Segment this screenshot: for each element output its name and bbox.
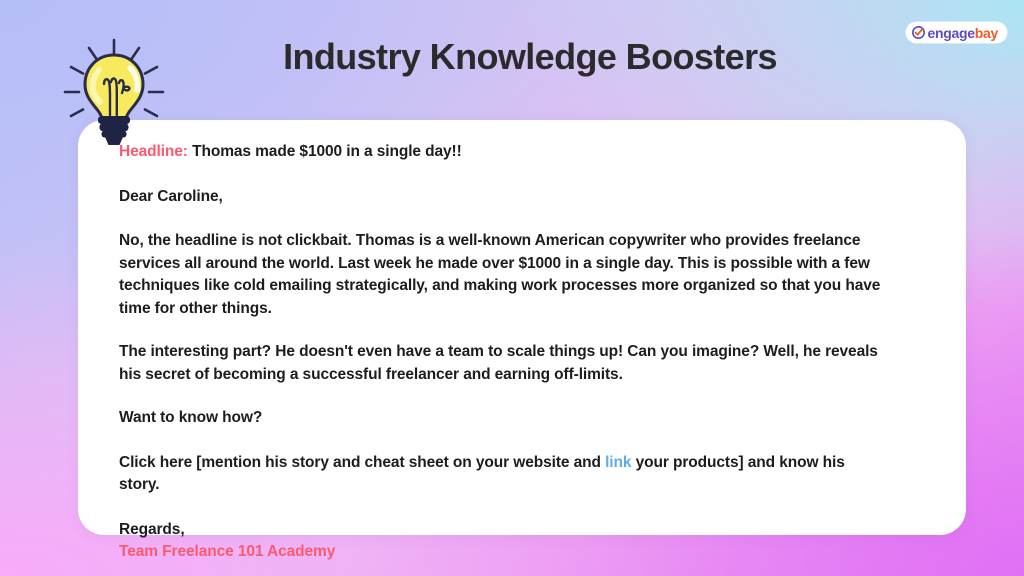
slide-canvas: engagebay Industry Knowledge Boosters [0,0,1024,576]
email-headline-text: Thomas made $1000 in a single day!! [192,143,462,160]
engagebay-logo: engagebay [906,22,1007,43]
email-greeting: Dear Caroline, [119,186,936,209]
email-paragraph-2: The interesting part? He doesn't even ha… [119,341,889,386]
spacer [119,320,936,341]
logo-text-bay: bay [975,25,998,41]
page-title: Industry Knowledge Boosters [180,36,880,77]
email-body: Headline: Thomas made $1000 in a single … [119,141,936,564]
email-signature: Team Freelance 101 Academy [119,541,936,564]
check-circle-icon [912,26,925,39]
spacer [119,386,936,407]
spacer [119,430,936,452]
email-cta-link[interactable]: link [605,454,631,471]
spacer [119,497,936,519]
email-card: Headline: Thomas made $1000 in a single … [78,120,966,535]
email-headline-row: Headline: Thomas made $1000 in a single … [119,141,936,164]
email-question: Want to know how? [119,407,936,430]
spacer [119,208,936,230]
spacer [119,164,936,186]
email-cta-before: Click here [mention his story and cheat … [119,454,605,471]
email-paragraph-1: No, the headline is not clickbait. Thoma… [119,230,889,320]
email-cta-row: Click here [mention his story and cheat … [119,452,889,497]
email-signoff: Regards, [119,519,936,542]
lightbulb-icon [58,38,170,150]
logo-text-engage: engage [928,25,975,41]
